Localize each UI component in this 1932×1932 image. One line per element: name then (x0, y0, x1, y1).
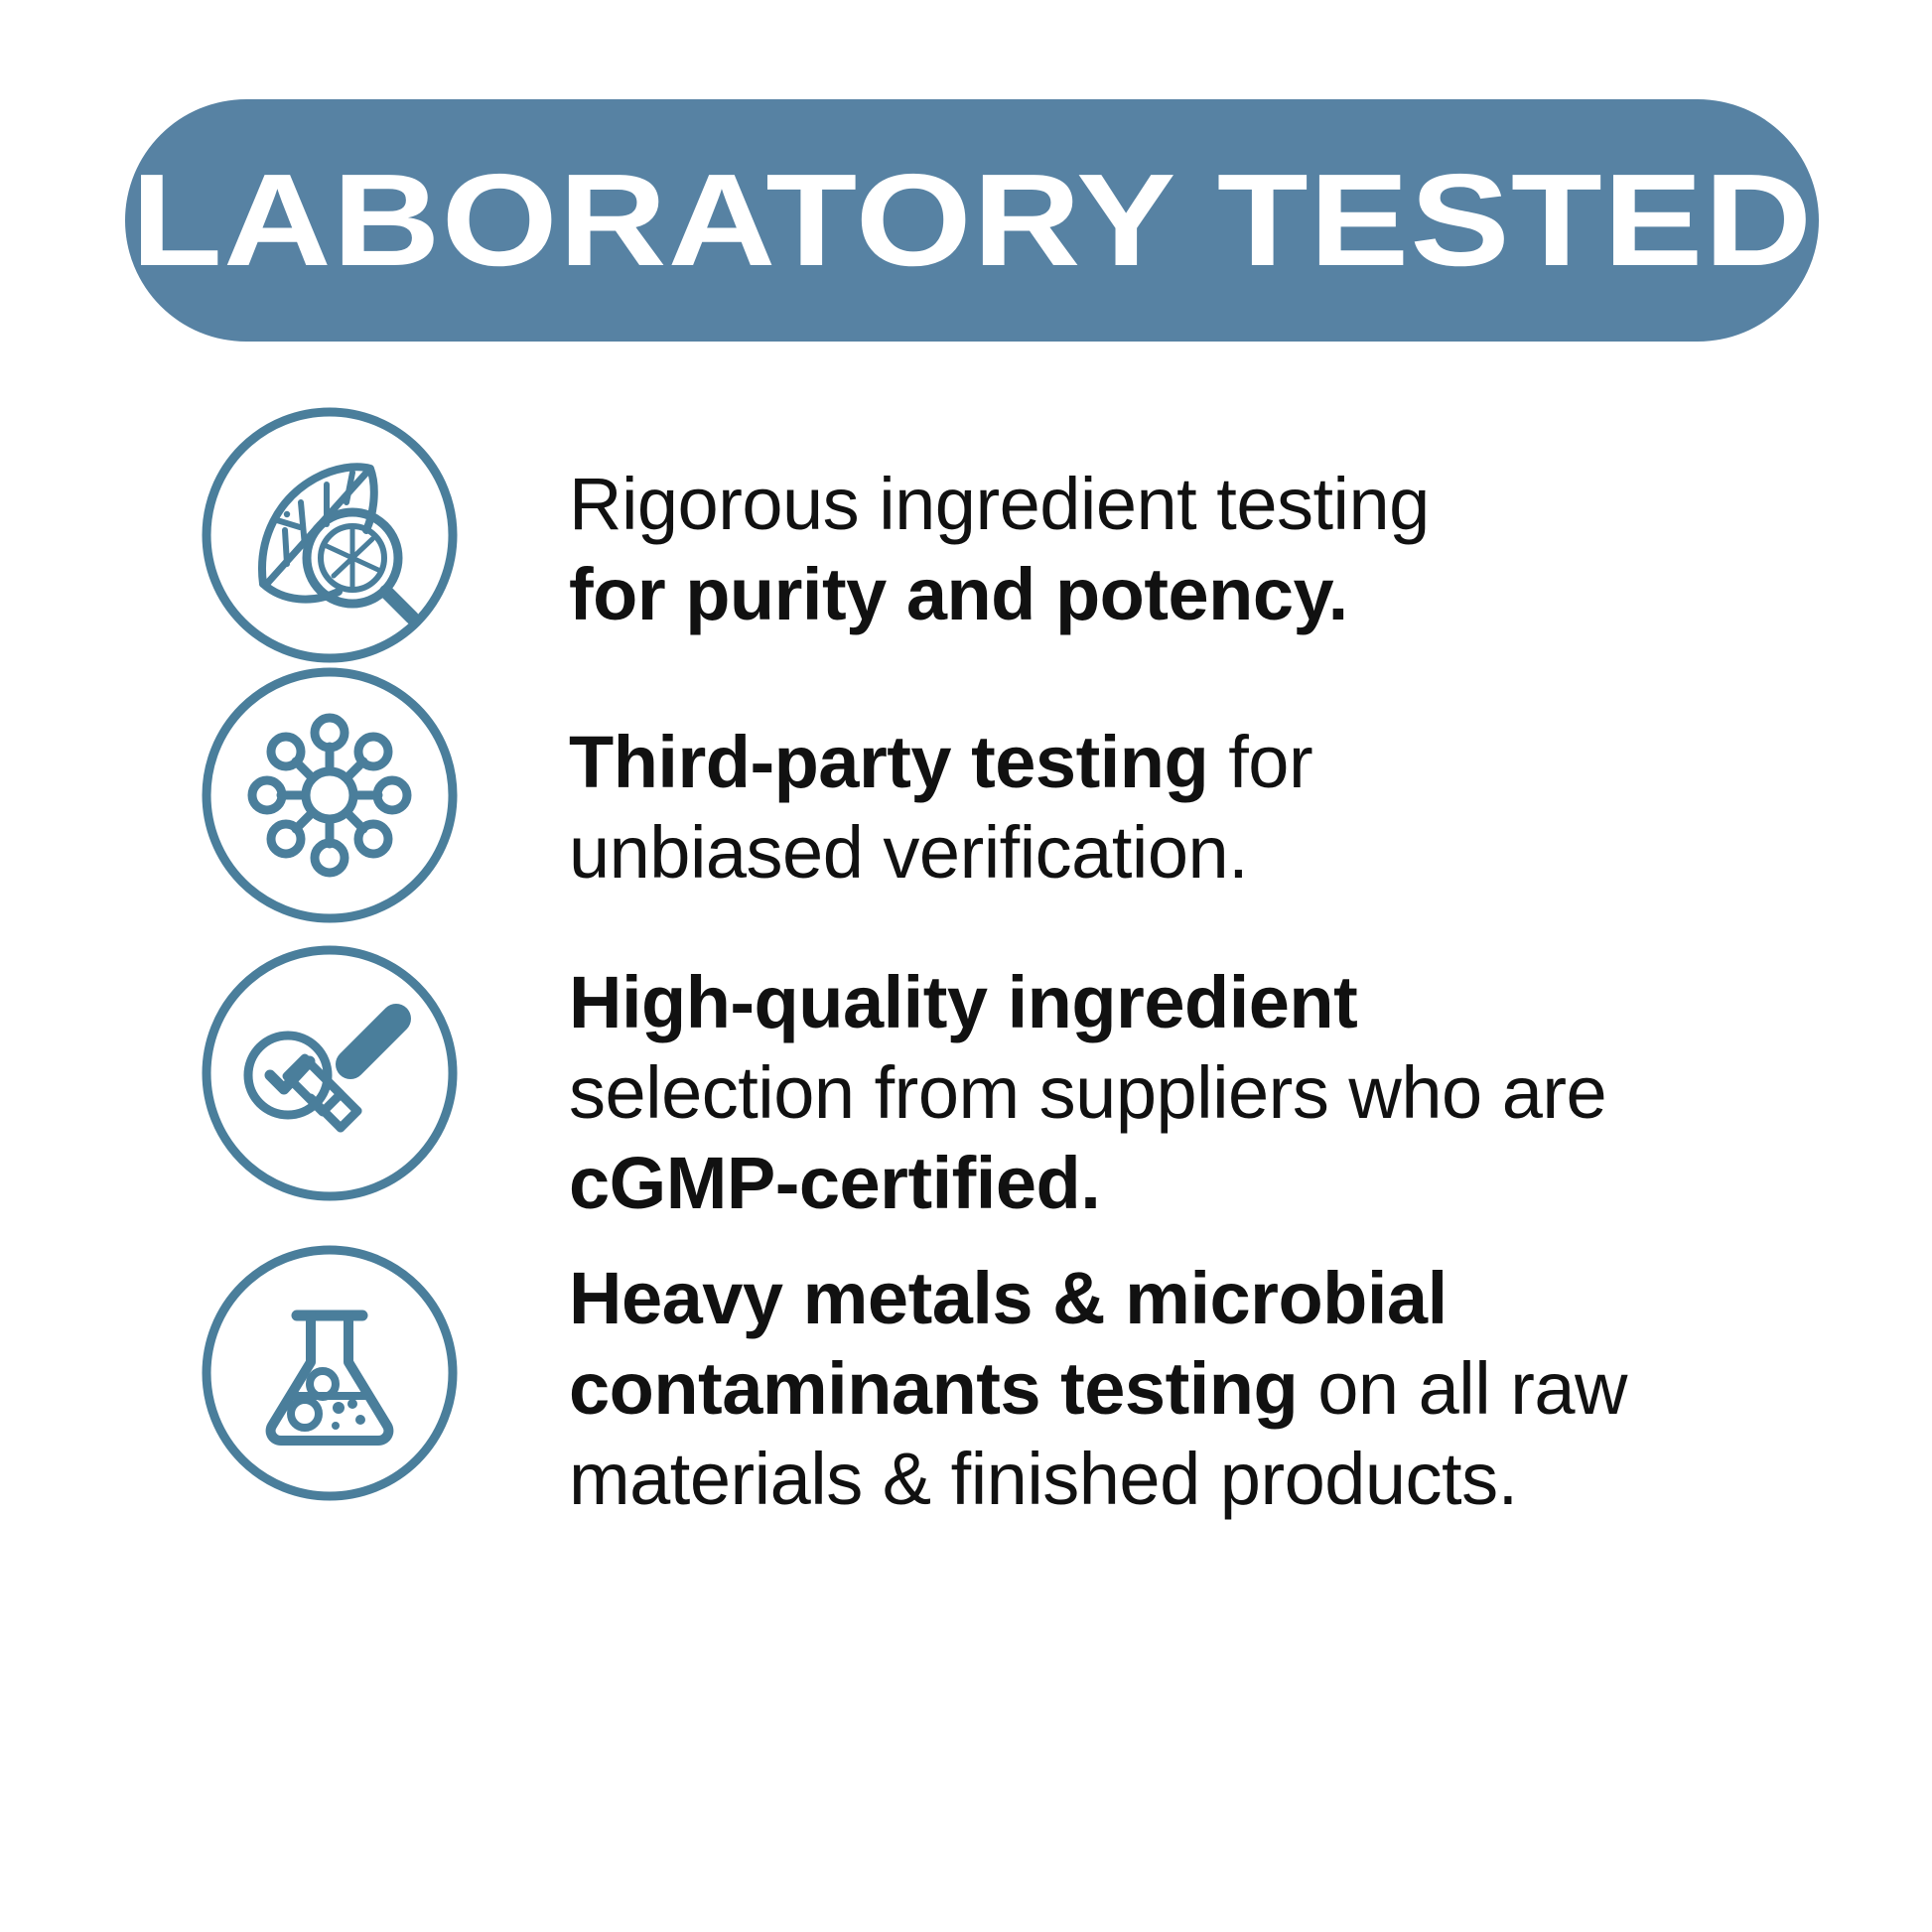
feature-text-emphasis: Heavy metals & microbial (569, 1257, 1448, 1339)
feature-text-emphasis: Third-party testing (569, 721, 1208, 803)
feature-text: High-quality ingredientselection from su… (569, 957, 1860, 1228)
feature-text: Heavy metals & microbialcontaminants tes… (569, 1253, 1860, 1524)
feature-text-run: unbiased verification. (569, 811, 1248, 894)
flask-icon (202, 1245, 458, 1501)
laboratory-tested-banner: LABORATORY TESTED (125, 99, 1819, 342)
feature-text-line: unbiased verification. (569, 807, 1860, 897)
feature-text-line: Heavy metals & microbial (569, 1253, 1860, 1343)
leaf-magnifier-icon (202, 407, 458, 663)
feature-text-run: on all raw (1298, 1347, 1627, 1430)
feature-text-emphasis: cGMP-certified. (569, 1142, 1100, 1224)
feature-text-line: materials & finished products. (569, 1434, 1860, 1524)
feature-text-line: Third-party testing for (569, 717, 1860, 807)
feature-text: Rigorous ingredient testingfor purity an… (569, 459, 1860, 639)
infographic-page: LABORATORY TESTED (0, 0, 1932, 1932)
feature-text-emphasis: for purity and potency. (569, 553, 1348, 635)
feature-text-emphasis: contaminants testing (569, 1347, 1298, 1430)
feature-text-line: Rigorous ingredient testing (569, 459, 1860, 549)
feature-text-run: materials & finished products. (569, 1438, 1518, 1520)
network-nodes-icon (202, 667, 458, 923)
stamp-check-icon (202, 945, 458, 1201)
banner-title: LABORATORY TESTED (131, 155, 1813, 286)
feature-text-line: for purity and potency. (569, 549, 1860, 639)
feature-text-line: cGMP-certified. (569, 1138, 1860, 1228)
feature-text-run: selection from suppliers who are (569, 1051, 1606, 1134)
feature-text-line: High-quality ingredient (569, 957, 1860, 1047)
feature-text-run: Rigorous ingredient testing (569, 463, 1430, 545)
feature-text-run: for (1208, 721, 1312, 803)
feature-text-emphasis: High-quality ingredient (569, 961, 1357, 1043)
feature-text-line: selection from suppliers who are (569, 1047, 1860, 1138)
feature-text-line: contaminants testing on all raw (569, 1343, 1860, 1434)
feature-text: Third-party testing forunbiased verifica… (569, 717, 1860, 897)
